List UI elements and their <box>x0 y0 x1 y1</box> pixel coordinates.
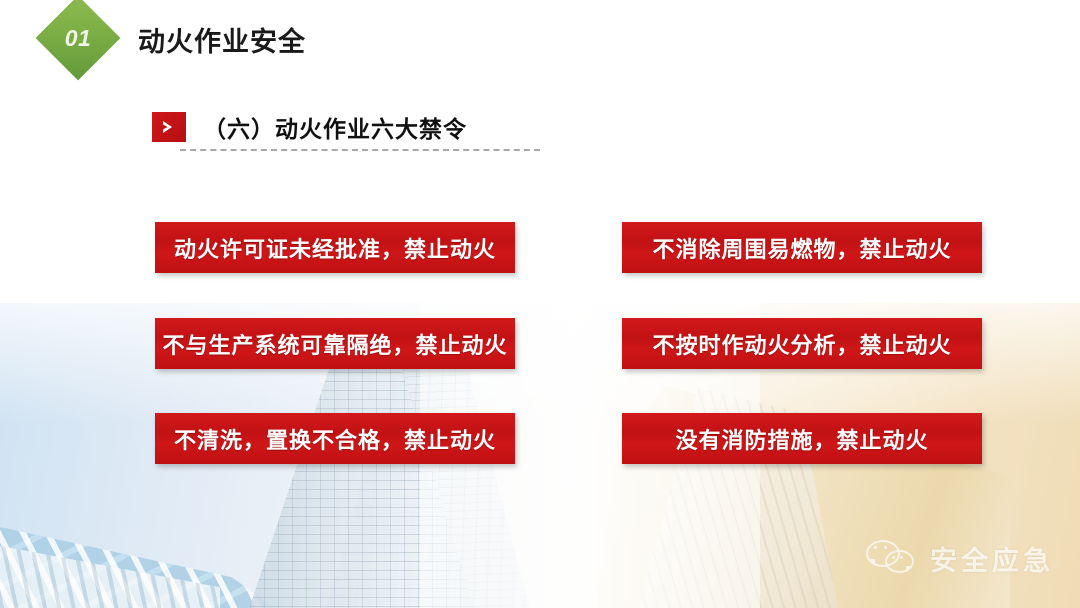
prohibition-banner: 不按时作动火分析，禁止动火 <box>622 318 982 369</box>
prohibition-banner: 不与生产系统可靠隔绝，禁止动火 <box>155 318 515 369</box>
watermark-label: 安全应急 <box>930 539 1054 578</box>
prohibition-banner: 没有消防措施，禁止动火 <box>622 413 982 464</box>
watermark: 安全应急 <box>866 538 1054 578</box>
page-title: 动火作业安全 <box>138 20 306 59</box>
subtitle-divider <box>180 149 540 151</box>
slide-canvas: 01 动火作业安全 （六）动火作业六大禁令 动火许可证未经批准，禁止动火 不与生… <box>0 0 1080 608</box>
prohibition-banner: 动火许可证未经批准，禁止动火 <box>155 222 515 273</box>
chevron-right-icon <box>152 112 186 142</box>
wechat-icon <box>866 538 918 578</box>
prohibition-banner: 不清洗，置换不合格，禁止动火 <box>155 413 515 464</box>
section-number-label: 01 <box>48 8 108 68</box>
prohibition-banner: 不消除周围易燃物，禁止动火 <box>622 222 982 273</box>
subtitle-text: （六）动火作业六大禁令 <box>203 110 467 144</box>
